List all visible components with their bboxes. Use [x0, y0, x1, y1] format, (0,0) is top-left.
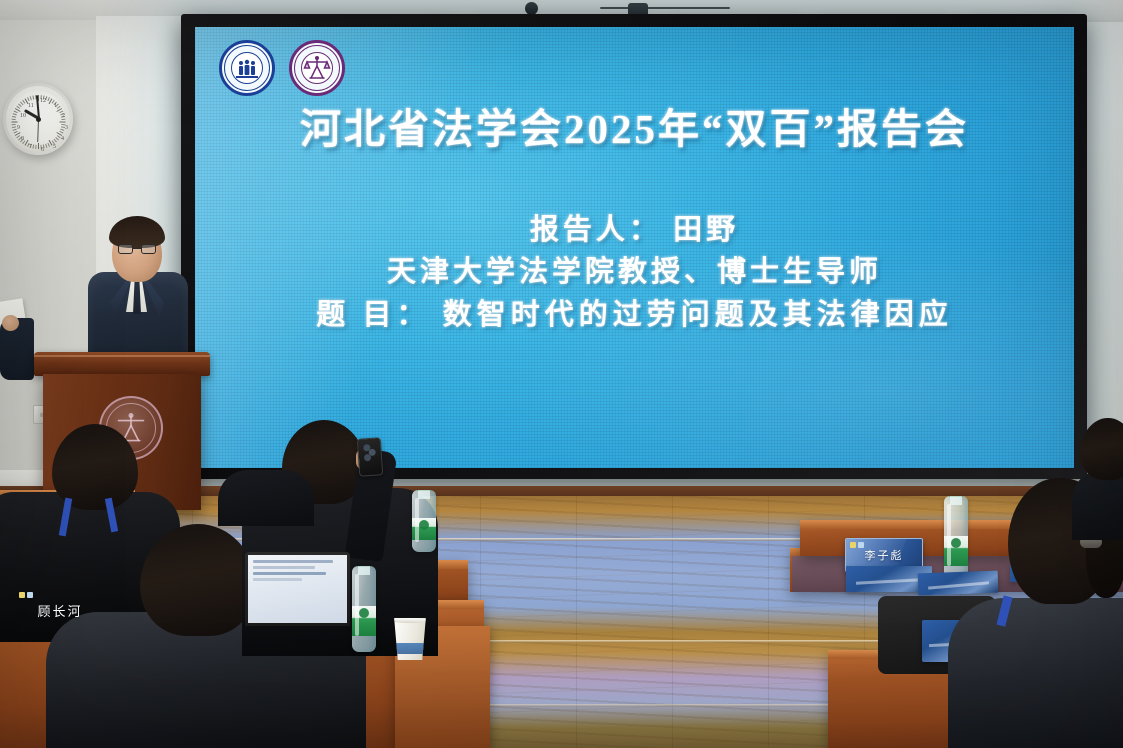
clock-numeral: 12 [40, 98, 46, 104]
clock-tick [32, 95, 34, 99]
water-bottle[interactable] [944, 496, 968, 582]
slide-line-topic: 题 目： 数智时代的过劳问题及其法律因应 [195, 294, 1074, 336]
offscreen-person-hand [2, 315, 19, 331]
water-bottle[interactable] [352, 566, 376, 652]
clock-tick [12, 121, 18, 122]
slide-line-presenter: 报告人： 田野 [195, 209, 1074, 251]
clock-numeral: 9 [17, 125, 20, 131]
clock-tick [12, 119, 16, 120]
attendee-front-right-torso [948, 598, 1123, 748]
clock-second-hand [37, 119, 39, 142]
university-emblem-icon [219, 40, 275, 96]
clock-center-pin [36, 117, 41, 122]
clock-numeral: 1 [54, 103, 57, 109]
water-bottle[interactable] [412, 490, 436, 552]
clock-tick [13, 113, 17, 115]
clock-tick [30, 96, 32, 100]
attendee-mid-right-torso [218, 470, 314, 526]
clock-numeral: 5 [53, 144, 56, 150]
clock-numeral: 11 [28, 103, 34, 109]
booklet[interactable] [918, 571, 999, 596]
clock-numeral: 8 [21, 136, 24, 142]
clock-numeral: 3 [65, 125, 68, 131]
law-society-emblem-icon [289, 40, 345, 96]
clock-tick [38, 143, 39, 149]
clock-face: 12 1 2 3 4 5 6 7 8 9 10 11 [11, 91, 65, 147]
clock-tick [12, 116, 16, 118]
clock-numeral: 6 [41, 147, 44, 153]
laptop[interactable] [245, 552, 350, 626]
clock-numeral: 10 [20, 113, 26, 119]
conference-photo-scene: 12 1 2 3 4 5 6 7 8 9 10 11 [0, 0, 1123, 748]
slide-line-affiliation: 天津大学法学院教授、博士生导师 [195, 251, 1074, 293]
clock-tick [32, 144, 34, 148]
attendee-far-right-torso [1072, 470, 1123, 540]
clock-numeral: 2 [62, 113, 65, 119]
nameplate-left-text: 顾长河 [37, 601, 82, 620]
slide-body: 报告人： 田野 天津大学法学院教授、博士生导师 题 目： 数智时代的过劳问题及其… [195, 209, 1074, 336]
clock-tick [12, 124, 16, 125]
clock-tick [60, 122, 66, 123]
slide-title: 河北省法学会2025年“双百”报告会 [195, 95, 1074, 155]
ceiling-cable [600, 7, 730, 9]
clock-numeral: 7 [29, 144, 32, 150]
clock-tick [35, 145, 36, 149]
wall-clock: 12 1 2 3 4 5 6 7 8 9 10 11 [3, 83, 73, 155]
led-presentation-screen[interactable]: 河北省法学会2025年“双百”报告会 报告人： 田野 天津大学法学院教授、博士生… [195, 27, 1074, 468]
nameplate-right-text: 李子彪 [865, 547, 904, 563]
eyeglasses-icon [118, 244, 156, 254]
paper-cup[interactable] [392, 618, 428, 660]
clock-numeral: 4 [61, 136, 64, 142]
slide-logos [219, 40, 345, 96]
podium-top [34, 352, 210, 376]
